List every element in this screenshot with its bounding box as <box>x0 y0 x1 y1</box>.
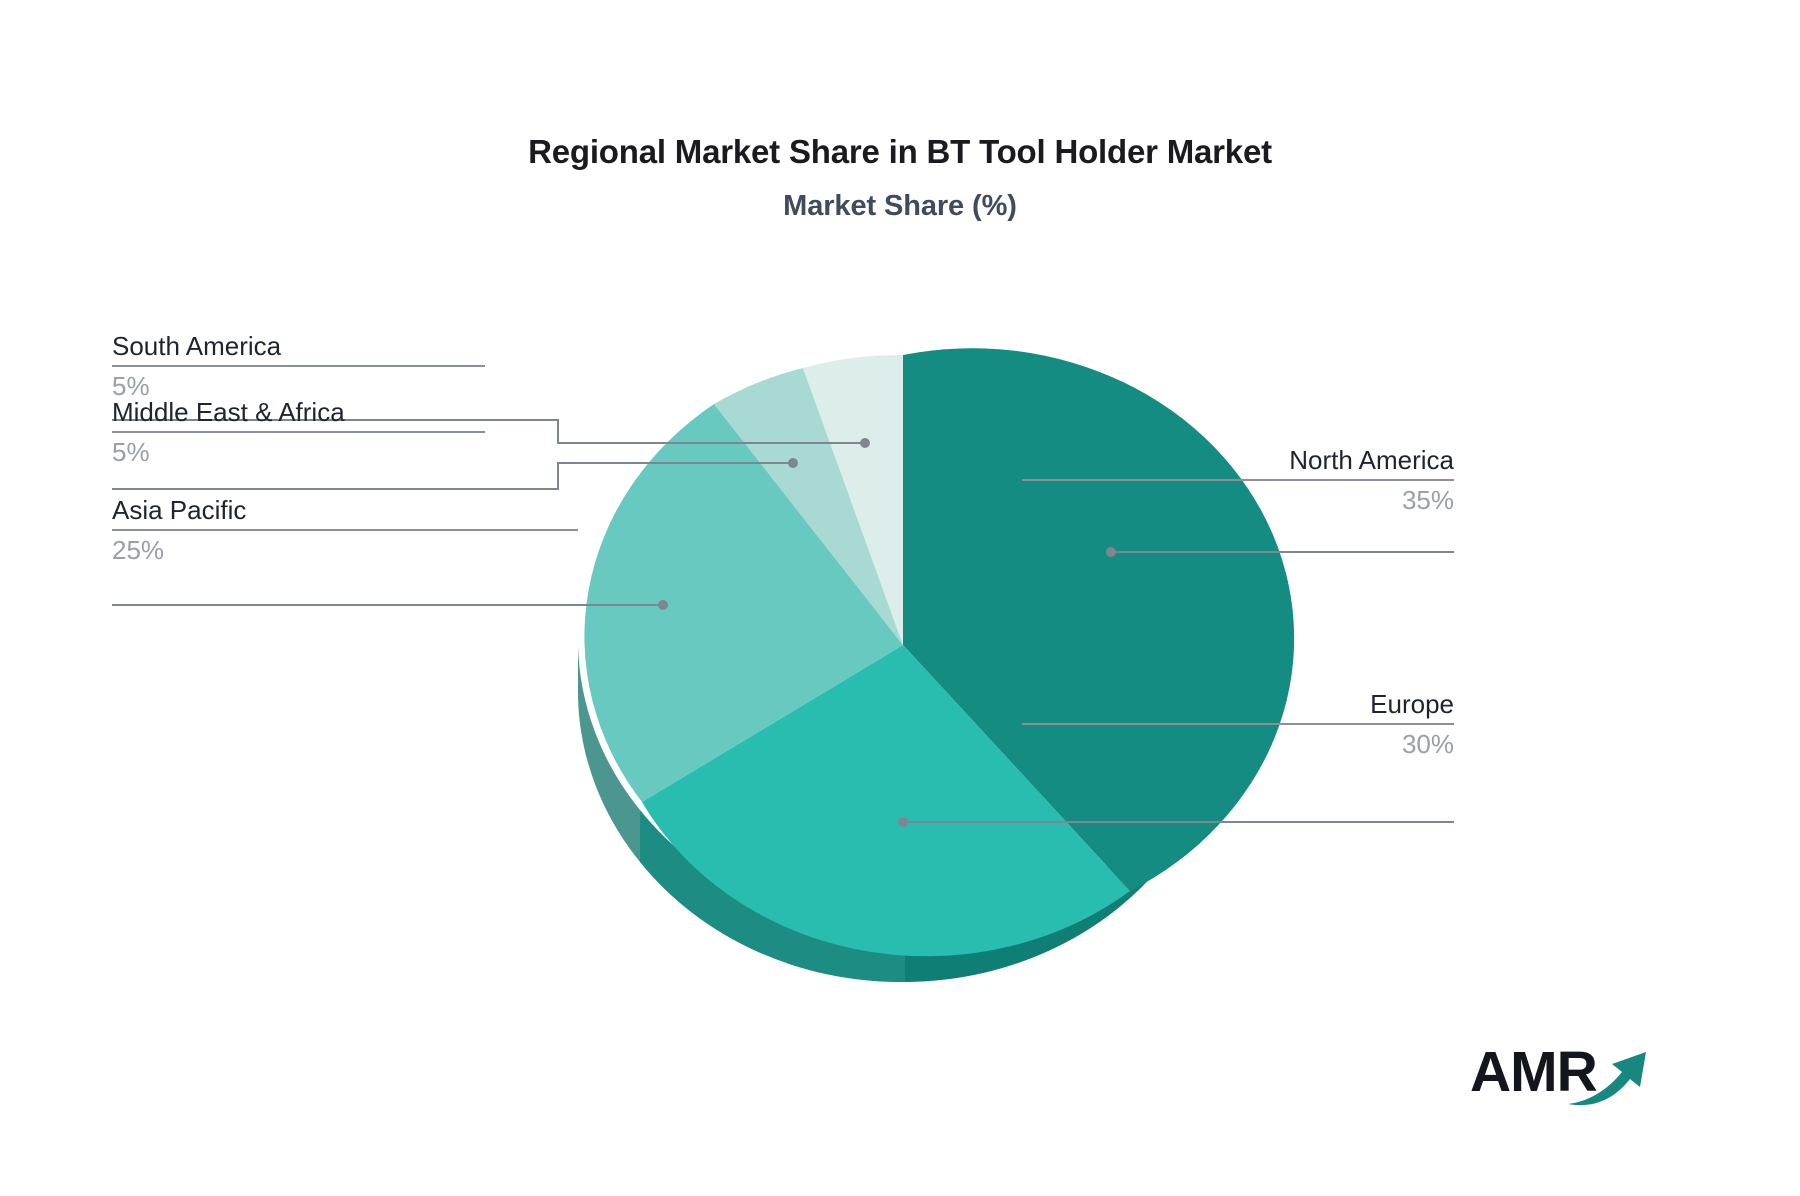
pie-chart <box>0 0 1800 1196</box>
pie-label-asia-pacific[interactable]: Asia Pacific 25% <box>112 493 578 567</box>
pie-slices <box>584 348 1294 956</box>
pie-label-europe-rule <box>1022 723 1454 725</box>
pie-slice-north-america[interactable] <box>903 348 1294 891</box>
pie-slice-middle-east-africa[interactable] <box>714 368 903 645</box>
pie-label-middle-east-africa-value: 5% <box>112 435 485 469</box>
page-title: Regional Market Share in BT Tool Holder … <box>0 133 1800 171</box>
pie-label-north-america[interactable]: North America 35% <box>1022 443 1454 517</box>
pie-label-middle-east-africa[interactable]: Middle East & Africa 5% <box>112 395 485 469</box>
chart-subtitle: Market Share (%) <box>0 190 1800 223</box>
pie-label-europe[interactable]: Europe 30% <box>1022 687 1454 761</box>
pie-slice-asia-pacific[interactable] <box>584 404 903 802</box>
pie-chart-svg <box>0 0 1800 1196</box>
slice-side-asia-pacific <box>578 645 640 862</box>
pie-label-asia-pacific-name: Asia Pacific <box>112 493 578 527</box>
pie-label-north-america-value: 35% <box>1022 483 1454 517</box>
pie-slice-south-america[interactable] <box>803 355 903 645</box>
pie-label-europe-value: 30% <box>1022 727 1454 761</box>
chart-canvas: Regional Market Share in BT Tool Holder … <box>0 0 1800 1196</box>
pie-label-north-america-rule <box>1022 479 1454 481</box>
leader-dot-north-america <box>1106 547 1116 557</box>
leader-dot-europe <box>898 817 908 827</box>
leader-dot-asia-pacific <box>658 600 668 610</box>
pie-label-middle-east-africa-name: Middle East & Africa <box>112 395 485 429</box>
pie-label-asia-pacific-value: 25% <box>112 533 578 567</box>
pie-label-middle-east-africa-rule <box>112 431 485 433</box>
pie-label-europe-name: Europe <box>1022 687 1454 721</box>
pie-label-south-america[interactable]: South America 5% <box>112 329 485 403</box>
slice-side-asia-pacific-2 <box>640 810 905 982</box>
pie-label-south-america-name: South America <box>112 329 485 363</box>
growth-arrow-icon <box>1566 1046 1652 1108</box>
leader-dot-middle-east-africa <box>788 458 798 468</box>
slice-side-europe <box>905 800 1172 982</box>
pie-label-north-america-name: North America <box>1022 443 1454 477</box>
pie-label-asia-pacific-rule <box>112 529 578 531</box>
pie-label-south-america-rule <box>112 365 485 367</box>
leader-dot-south-america <box>860 438 870 448</box>
amr-logo: AMR <box>1470 1042 1650 1114</box>
